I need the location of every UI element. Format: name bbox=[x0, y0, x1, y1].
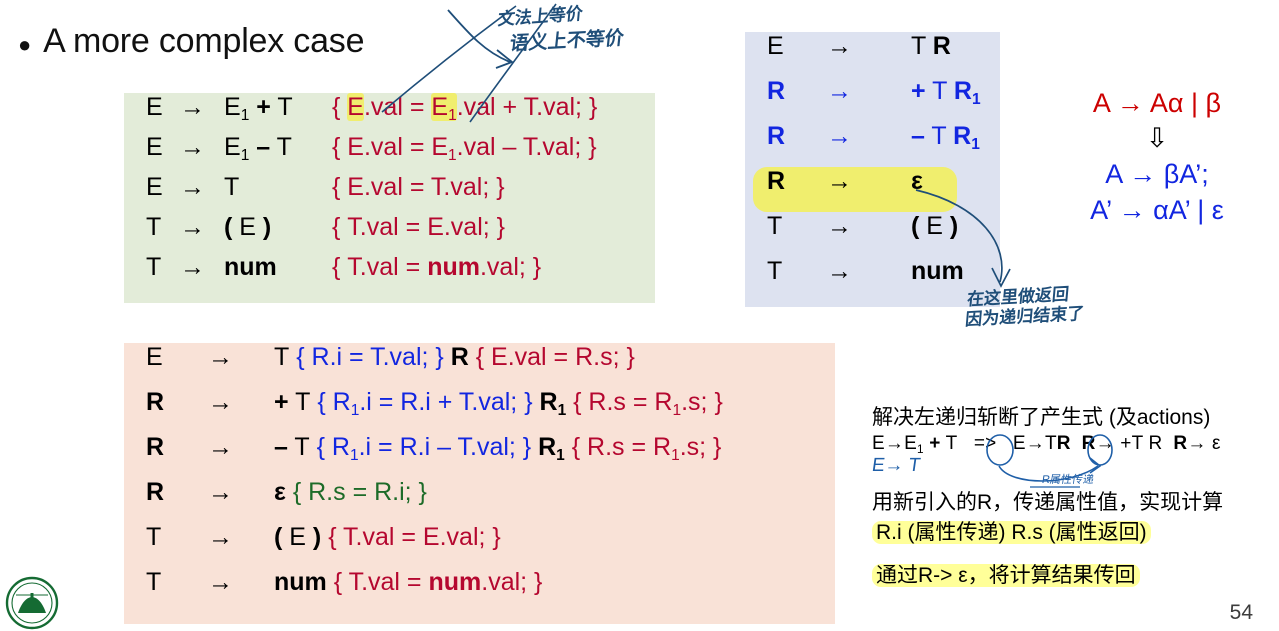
grammar-row: E→ E1 + T { E.val = E1.val + T.val; } bbox=[124, 93, 655, 133]
grammar-row: E→ T { E.val = T.val; } bbox=[124, 173, 655, 213]
grammar-row: T→ num { T.val = num.val; } bbox=[124, 568, 835, 613]
bullet-icon: ● bbox=[18, 34, 31, 56]
grammar-row: R→ + T { R1.i = R.i + T.val; } R1 { R.s … bbox=[124, 388, 835, 433]
grammar-row: R→ + T R1 bbox=[745, 77, 1000, 122]
handwriting-top-line-2: 语义上不等价 bbox=[509, 23, 626, 56]
slide-canvas: ● A more complex case E→ E1 + T { E.val … bbox=[0, 0, 1279, 631]
handwriting-top-line-1: 文法上等价 bbox=[497, 0, 584, 30]
grammar-row: R→ ε { R.s = R.i; } bbox=[124, 478, 835, 523]
grammar-row: T→ ( E ) { T.val = E.val; } bbox=[124, 213, 655, 253]
grammar-row: E→ E1 – T { E.val = E1.val – T.val; } bbox=[124, 133, 655, 173]
note-line-4-highlight: 通过R-> ε，将计算结果传回 bbox=[872, 564, 1140, 587]
chinese-notes-block: 解决左递归斩断了产生式 (及actions) E→E1 + T => E→TR … bbox=[872, 404, 1272, 591]
note-spacer bbox=[872, 548, 1272, 562]
note-line-4: 通过R-> ε，将计算结果传回 bbox=[872, 562, 1272, 591]
note-ink-line: E→ T bbox=[870, 455, 921, 477]
grammar-row: E→ T { R.i = T.val; } R { E.val = R.s; } bbox=[124, 343, 835, 388]
note-line-3-highlight: R.i (属性传递) R.s (属性返回) bbox=[872, 521, 1151, 544]
down-arrow-icon: ⇩ bbox=[1035, 123, 1279, 154]
page-title-text: A more complex case bbox=[43, 22, 364, 61]
left-recursion-formula: A → Aα | β ⇩ A → βA’; A’ → αA’ | ε bbox=[1035, 88, 1279, 229]
note-line-2: 用新引入的R，传递属性值，实现计算 bbox=[872, 489, 1272, 518]
grammar-row: T→ ( E ) { T.val = E.val; } bbox=[124, 523, 835, 568]
page-title: ● A more complex case bbox=[18, 22, 364, 61]
handwriting-right-line-2: 因为递归结束了 bbox=[964, 304, 1085, 330]
pink-grammar-box: E→ T { R.i = T.val; } R { E.val = R.s; }… bbox=[124, 343, 835, 624]
grammar-row: R→ – T { R1.i = R.i – T.val; } R1 { R.s … bbox=[124, 433, 835, 478]
note-line-3: R.i (属性传递) R.s (属性返回) bbox=[872, 519, 1272, 548]
grammar-row: R→ – T R1 bbox=[745, 122, 1000, 167]
blue-grammar-box: E→ T R R→ + T R1 R→ – T R1 R→ ε T→ ( E )… bbox=[745, 32, 1000, 307]
note-line-1: 解决左递归斩断了产生式 (及actions) bbox=[872, 404, 1272, 433]
formula-after-line2: A’ → αA’ | ε bbox=[1035, 192, 1279, 228]
note-formula-line: E→E1 + T => E→TR R→ +T R R→ ε bbox=[872, 433, 1272, 455]
grammar-row: T→ num bbox=[745, 257, 1000, 302]
page-number: 54 bbox=[1230, 601, 1253, 625]
grammar-row: E→ T R bbox=[745, 32, 1000, 77]
grammar-row: T→ ( E ) bbox=[745, 212, 1000, 257]
grammar-row-epsilon-highlighted: R→ ε bbox=[753, 167, 957, 212]
grammar-row: T→ num { T.val = num.val; } bbox=[124, 253, 655, 293]
formula-after-line1: A → βA’; bbox=[1035, 156, 1279, 192]
formula-before: A → Aα | β bbox=[1035, 88, 1279, 119]
green-grammar-box: E→ E1 + T { E.val = E1.val + T.val; } E→… bbox=[124, 93, 655, 303]
note-ink-small: R属性传递 bbox=[1041, 471, 1273, 487]
sun-yat-sen-university-seal-logo bbox=[2, 571, 62, 631]
